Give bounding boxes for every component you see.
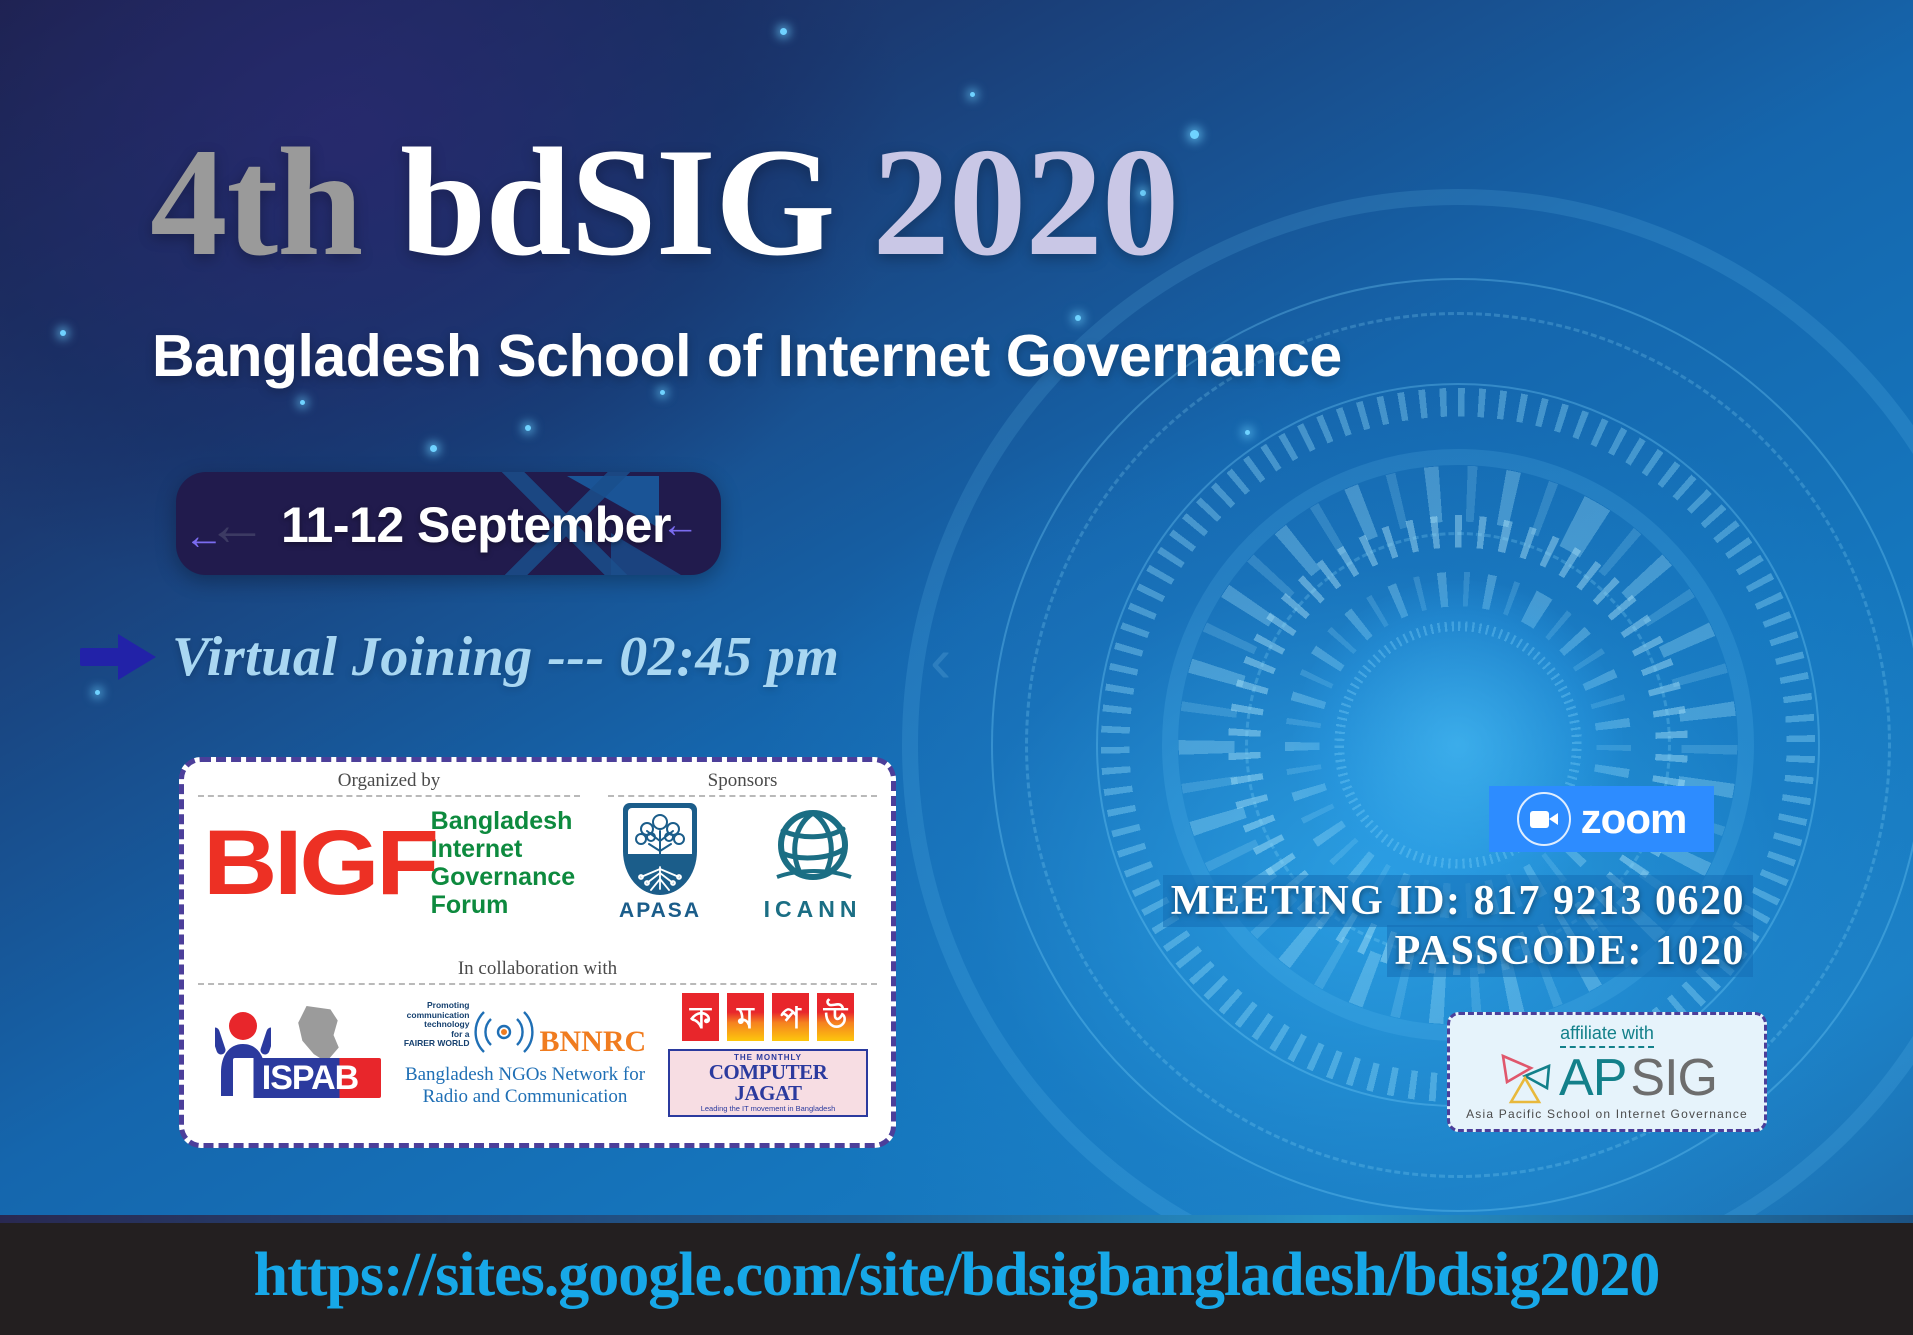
ispab-logo: ISPAB xyxy=(207,1000,382,1108)
apsig-ap-text: AP xyxy=(1559,1052,1626,1104)
sparkle-dot xyxy=(1190,130,1199,139)
bigf-wordmark: BIGF xyxy=(203,821,436,906)
title-acronym: bdSIG xyxy=(400,116,835,288)
page-title: 4th bdSIG 2020 xyxy=(150,125,1178,280)
partners-card: Organized by BIGF Bangladesh Internet Go… xyxy=(179,757,896,1148)
jagat-cell: প xyxy=(770,991,811,1043)
url-bar-glow xyxy=(0,1215,1913,1223)
globe-icon xyxy=(771,805,855,889)
poster-canvas: 4th bdSIG 2020 Bangladesh School of Inte… xyxy=(0,0,1913,1335)
ring-core-glow xyxy=(1293,580,1623,910)
bnnrc-slogan: Promotingcommunicationtechnologyfor aFAI… xyxy=(404,1001,470,1063)
event-website-link[interactable]: https://sites.google.com/site/bdsigbangl… xyxy=(254,1240,1660,1311)
collaboration-label: In collaboration with xyxy=(184,958,891,980)
signal-waves-icon xyxy=(473,1001,535,1063)
jagat-cell: উ xyxy=(815,991,856,1043)
bigf-line-4: Forum xyxy=(431,891,576,919)
sponsor-logos: APASA ICANN xyxy=(594,803,891,923)
ring-ticks-outer xyxy=(953,240,1913,1250)
apasa-wordmark: APASA xyxy=(605,899,715,923)
jagat-cell: ম xyxy=(725,991,766,1043)
ispab-wordmark: ISPAB xyxy=(237,1058,383,1098)
divider xyxy=(198,983,877,985)
arrow-right-icon xyxy=(80,632,158,682)
collaboration-row: In collaboration with ISPAB Promotingcom xyxy=(184,954,891,1117)
bnnrc-subtitle-1: Bangladesh NGOs Network for xyxy=(400,1064,650,1085)
date-badge: ← ← ← 11-12 September xyxy=(176,472,721,575)
affiliate-with-label: affiliate with xyxy=(1560,1023,1654,1048)
virtual-joining-text: Virtual Joining --- 02:45 pm xyxy=(172,625,839,689)
zoom-wordmark: zoom xyxy=(1581,795,1687,843)
apsig-sig-text: SIG xyxy=(1630,1052,1717,1104)
title-year: 2020 xyxy=(872,116,1178,288)
video-camera-icon xyxy=(1517,792,1571,846)
icann-logo: ICANN xyxy=(745,805,880,923)
sparkle-dot xyxy=(430,445,437,452)
bnnrc-top: Promotingcommunicationtechnologyfor aFAI… xyxy=(400,1001,650,1063)
sparkle-dot xyxy=(780,28,787,35)
meeting-passcode: PASSCODE: 1020 xyxy=(1387,925,1753,977)
icann-wordmark: ICANN xyxy=(745,896,880,923)
jagat-band-bottom: Leading the IT movement in Bangladesh xyxy=(674,1104,862,1113)
jagat-band-mid: COMPUTER JAGAT xyxy=(674,1062,862,1104)
apsig-tagline: Asia Pacific School on Internet Governan… xyxy=(1460,1107,1754,1121)
zoom-logo: zoom xyxy=(1489,786,1714,852)
divider xyxy=(198,795,580,797)
camera-glyph xyxy=(1530,811,1558,828)
event-date: 11-12 September xyxy=(281,496,671,554)
bigf-line-3: Governance xyxy=(431,863,576,891)
apsig-logo: APSIG xyxy=(1460,1050,1754,1106)
page-subtitle: Bangladesh School of Internet Governance xyxy=(152,322,1342,390)
title-ordinal: 4th xyxy=(150,116,362,288)
jagat-band: THE MONTHLY COMPUTER JAGAT Leading the I… xyxy=(668,1049,868,1117)
ring-2 xyxy=(1096,383,1820,1107)
divider xyxy=(608,795,877,797)
apsig-triangles-icon xyxy=(1497,1050,1555,1106)
sparkle-dot xyxy=(95,690,100,695)
sparkle-dot xyxy=(525,425,531,431)
virtual-joining-row: Virtual Joining --- 02:45 pm xyxy=(80,625,839,689)
jagat-cell: ক xyxy=(680,991,721,1043)
ring-ticks-core xyxy=(1283,570,1633,920)
url-bar: https://sites.google.com/site/bdsigbangl… xyxy=(0,1215,1913,1335)
bigf-line-2: Internet xyxy=(431,835,576,863)
partners-top-row: Organized by BIGF Bangladesh Internet Go… xyxy=(184,762,891,954)
sponsors-label: Sponsors xyxy=(594,770,891,792)
organized-by-label: Organized by xyxy=(184,770,594,792)
sponsors-column: Sponsors xyxy=(594,762,891,954)
apsig-card: affiliate with APSIG Asia Pacific School… xyxy=(1447,1012,1767,1132)
chevron-left-icon: ‹ xyxy=(930,628,951,692)
tree-graphic xyxy=(629,811,691,895)
sparkle-dot xyxy=(1245,430,1250,435)
jagat-bangla-title: ক ম প উ xyxy=(668,991,868,1043)
sparkle-dot xyxy=(1075,315,1081,321)
sparkle-dot xyxy=(60,330,66,336)
arrow-left-small-icon: ← xyxy=(184,516,224,556)
bnnrc-subtitle-2: Radio and Communication xyxy=(400,1086,650,1107)
sparkle-dot xyxy=(300,400,305,405)
sparkle-dot xyxy=(660,390,665,395)
bangladesh-map-icon xyxy=(293,1006,345,1062)
collaborator-logos: ISPAB Promotingcommunicationtechnologyfo… xyxy=(184,991,891,1117)
computer-jagat-logo: ক ম প উ THE MONTHLY COMPUTER JAGAT Leadi… xyxy=(668,991,868,1117)
bigf-line-1: Bangladesh xyxy=(431,807,576,835)
bigf-logo: BIGF Bangladesh Internet Governance Foru… xyxy=(184,807,594,919)
meeting-id: MEETING ID: 817 9213 0620 xyxy=(1163,875,1753,927)
shield-tree-icon xyxy=(623,803,697,895)
bnnrc-wordmark: BNNRC xyxy=(539,1025,646,1063)
bnnrc-logo: Promotingcommunicationtechnologyfor aFAI… xyxy=(400,1001,650,1108)
bigf-fullname: Bangladesh Internet Governance Forum xyxy=(431,807,576,919)
sparkle-dot xyxy=(970,92,975,97)
apasa-logo: APASA xyxy=(605,803,715,923)
organized-by-column: Organized by BIGF Bangladesh Internet Go… xyxy=(184,762,594,954)
